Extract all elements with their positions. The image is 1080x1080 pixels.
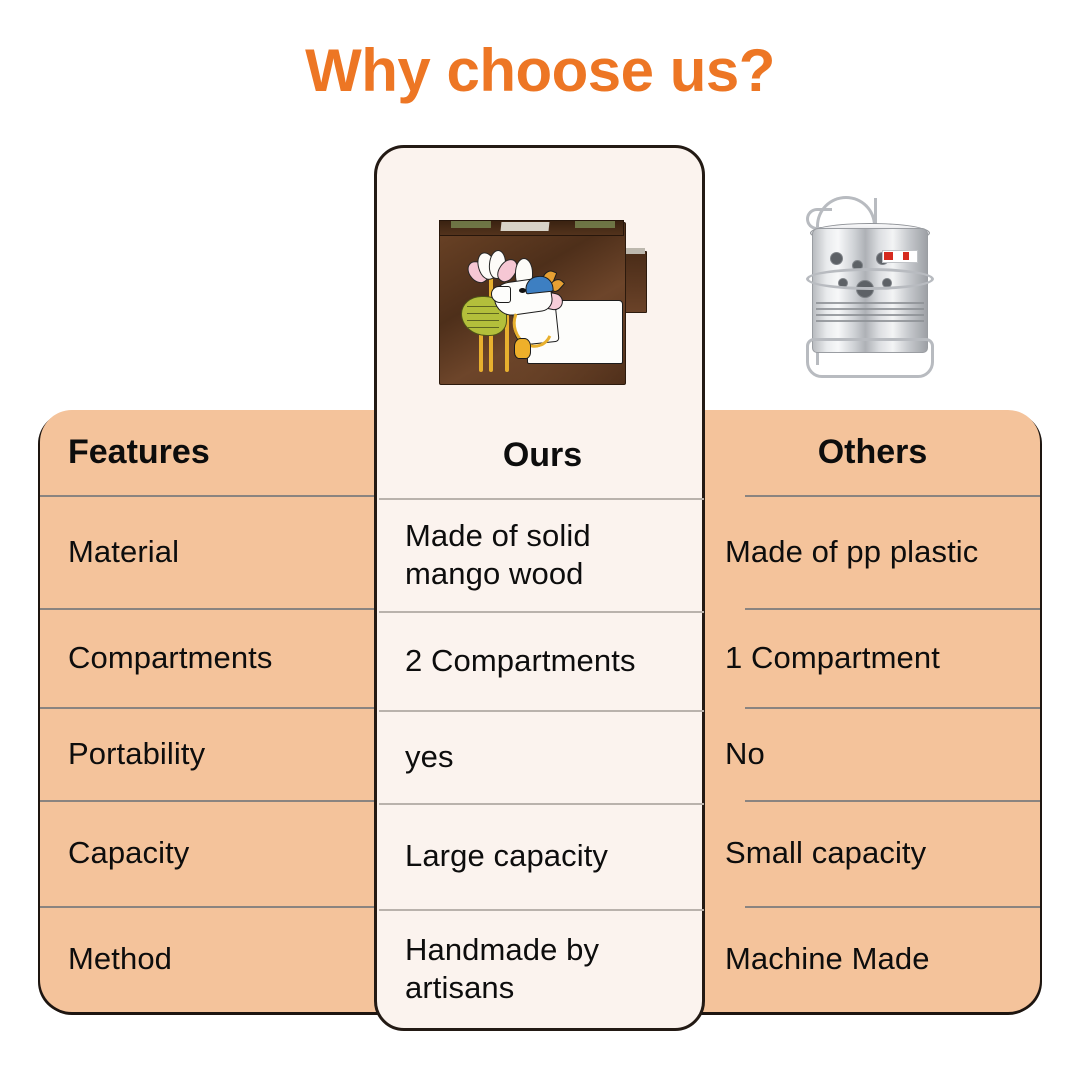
cow-eye <box>519 288 526 293</box>
ours-column-header: Ours <box>377 413 708 498</box>
ours-cell-method: Handmade by artisans <box>377 909 708 1029</box>
table-row: Machine Made <box>705 906 1040 1012</box>
table-row: Capacity <box>40 800 375 906</box>
lotus-flower <box>469 250 513 280</box>
table-row: Compartments <box>40 608 375 707</box>
box-inner-right <box>575 221 615 228</box>
caddy-band-4 <box>816 320 924 322</box>
caddy-band-2 <box>816 308 924 310</box>
ours-cell-compartments: 2 Compartments <box>377 611 708 710</box>
cow-bell <box>514 338 531 359</box>
ours-cell-portability: yes <box>377 710 708 803</box>
caddy-band-3 <box>816 314 924 316</box>
others-product-image <box>770 190 960 395</box>
ours-highlight-card: Ours Made of solid mango wood 2 Compartm… <box>374 145 705 1031</box>
table-row: Made of pp plastic <box>705 495 1040 608</box>
table-row: Portability <box>40 707 375 800</box>
caddy-hole-1 <box>830 252 843 265</box>
ours-cell-capacity: Large capacity <box>377 803 708 909</box>
box-side-panel <box>623 251 647 313</box>
ours-cell-material: Made of solid mango wood <box>377 498 708 611</box>
box-side-top <box>623 248 645 254</box>
table-row: 1 Compartment <box>705 608 1040 707</box>
table-header-features: Features <box>40 410 375 495</box>
table-row: Small capacity <box>705 800 1040 906</box>
box-inner-left <box>451 221 491 228</box>
page-title: Why choose us? <box>0 36 1080 105</box>
caddy-brand-label <box>882 250 918 263</box>
caddy-frame-base <box>806 338 934 378</box>
table-header-others: Others <box>705 410 1040 495</box>
table-row: Material <box>40 495 375 608</box>
caddy-frame-ring <box>806 268 934 290</box>
ours-product-image <box>377 148 702 408</box>
table-row: Method <box>40 906 375 1012</box>
table-row: No <box>705 707 1040 800</box>
cow-muzzle <box>491 286 511 303</box>
caddy-band-1 <box>816 302 924 304</box>
box-inner-center <box>501 222 550 231</box>
wooden-cutlery-box-illustration <box>439 208 631 383</box>
